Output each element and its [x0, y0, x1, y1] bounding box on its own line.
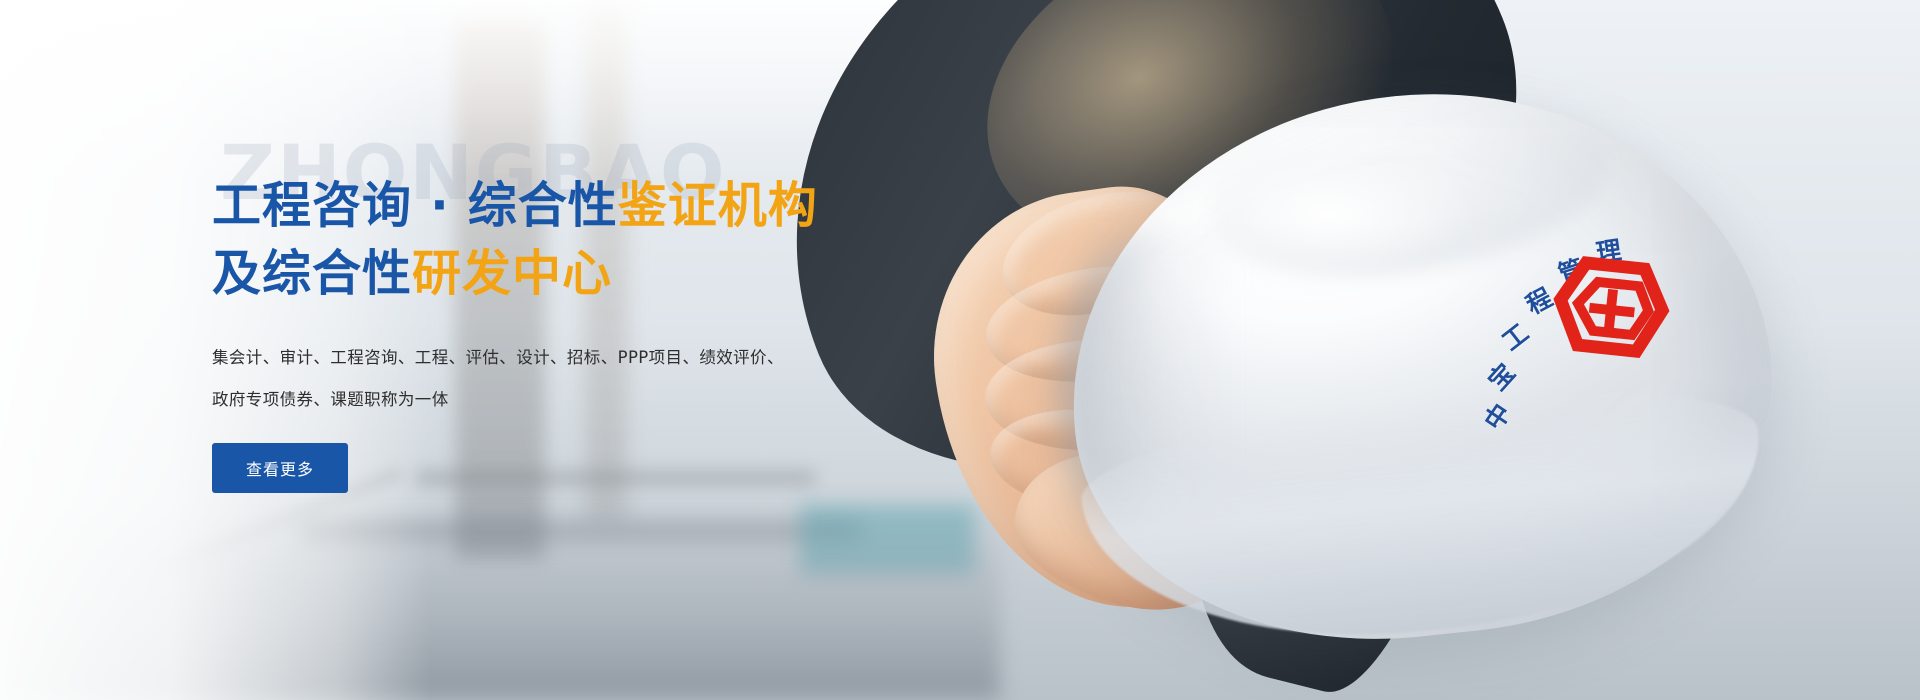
zhongbao-emblem-icon — [1546, 244, 1676, 374]
headline-line-1: 工程咨询 · 综合性鉴证机构 — [212, 172, 912, 240]
headline-separator-dot: · — [412, 177, 468, 234]
page-title: 工程咨询 · 综合性鉴证机构 及综合性研发中心 — [212, 172, 912, 307]
headline-segment-blue: 工程咨询 — [212, 177, 412, 234]
banner-description: 集会计、审计、工程咨询、工程、评估、设计、招标、PPP项目、绩效评价、 政府专项… — [212, 337, 802, 421]
helmet-brand-char: 中 — [1475, 396, 1519, 437]
hero-banner: 中 宝 工 程 管 理 ZHONGBAO 工程咨询 · 综合性鉴证机构 及综合性… — [0, 0, 1920, 700]
view-more-button[interactable]: 查看更多 — [212, 443, 348, 493]
headline-segment-orange: 鉴证机构 — [618, 177, 818, 234]
helmet-brand-char: 工 — [1494, 314, 1536, 358]
description-line-2: 政府专项债券、课题职称为一体 — [212, 379, 802, 421]
helmet-gloss-highlight — [1180, 150, 1480, 280]
hero-content: ZHONGBAO 工程咨询 · 综合性鉴证机构 及综合性研发中心 集会计、审计、… — [212, 120, 912, 493]
helmet-brand-char: 宝 — [1479, 355, 1522, 398]
description-line-1: 集会计、审计、工程咨询、工程、评估、设计、招标、PPP项目、绩效评价、 — [212, 337, 802, 379]
headline-segment-blue-3: 及综合性 — [212, 245, 412, 302]
headline-segment-blue-2: 综合性 — [468, 177, 618, 234]
headline-line-2: 及综合性研发中心 — [212, 240, 912, 308]
headline-segment-orange-2: 研发中心 — [412, 245, 612, 302]
